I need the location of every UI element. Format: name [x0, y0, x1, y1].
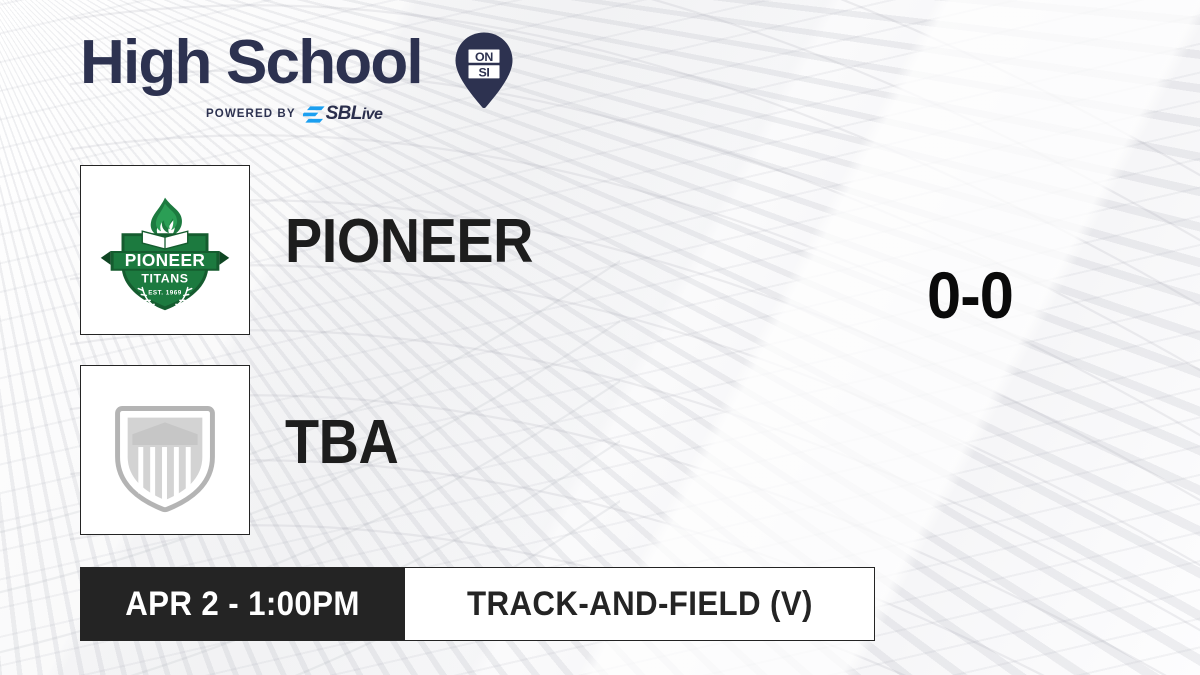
on-si-pin-icon: ON SI — [454, 31, 514, 109]
team-logo-box-home: PIONEER TITANS EST. 1969 — [80, 165, 250, 335]
game-matchup-card: High School ON SI POWERED BY — [0, 0, 1200, 675]
powered-by-lockup: POWERED BY SBLive — [206, 105, 382, 123]
game-datetime-label: APR 2 - 1:00PM — [125, 585, 360, 624]
team-logo-box-away — [80, 365, 250, 535]
sblive-s-mark-icon — [303, 106, 325, 123]
svg-text:TITANS: TITANS — [141, 272, 188, 286]
powered-by-label: POWERED BY — [206, 108, 296, 120]
team-name-away: TBA — [285, 407, 398, 478]
score-display: 0-0 — [877, 257, 1063, 333]
placeholder-shield-logo-icon — [81, 366, 249, 534]
svg-text:ON: ON — [475, 50, 493, 64]
svg-text:EST. 1969: EST. 1969 — [148, 289, 182, 296]
game-sport: TRACK-AND-FIELD (V) — [405, 567, 875, 641]
game-info-bar: APR 2 - 1:00PM TRACK-AND-FIELD (V) — [80, 567, 875, 641]
brand-lockup: High School ON SI POWERED BY — [80, 33, 510, 133]
team-name-home: PIONEER — [285, 206, 533, 277]
pioneer-titans-shield-logo-icon: PIONEER TITANS EST. 1969 — [81, 166, 249, 334]
svg-text:SI: SI — [478, 66, 489, 80]
sblive-wordmark: SBLive — [326, 105, 383, 123]
sblive-wordmark-upper: SBL — [326, 103, 362, 124]
sblive-logo: SBLive — [303, 105, 383, 123]
svg-text:PIONEER: PIONEER — [125, 250, 206, 270]
brand-wordmark: High School — [80, 33, 510, 93]
game-sport-label: TRACK-AND-FIELD (V) — [467, 585, 813, 624]
game-datetime: APR 2 - 1:00PM — [80, 567, 405, 641]
sblive-wordmark-lower: ive — [362, 106, 382, 123]
